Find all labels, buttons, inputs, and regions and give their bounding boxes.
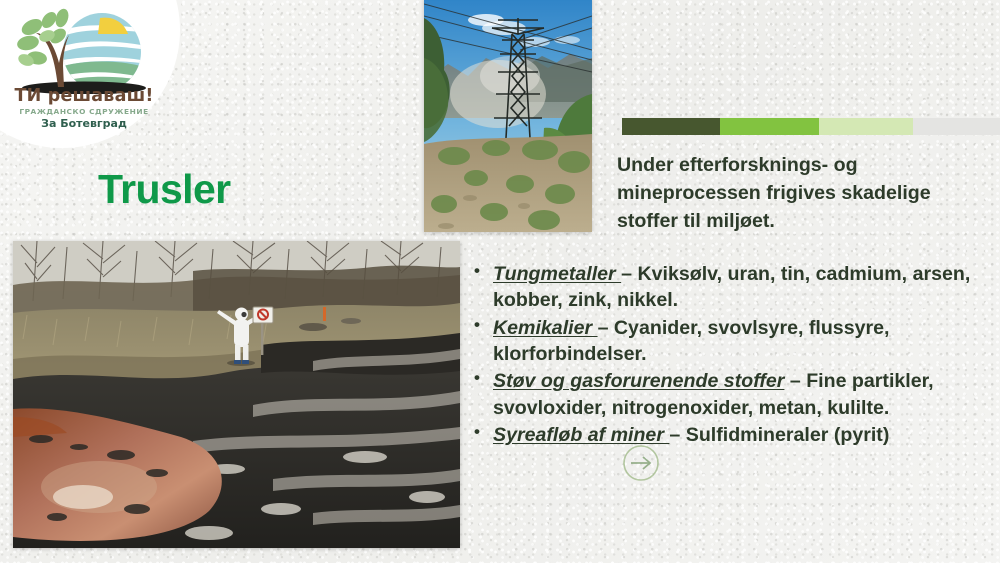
progress-segment-4	[913, 118, 1000, 135]
progress-segment-2	[720, 118, 818, 135]
list-item: Syreafløb af miner – Sulfidmineraler (py…	[468, 422, 1000, 448]
bullet-term: Syreafløb af miner	[493, 424, 669, 446]
threats-bullet-list: Tungmetaller – Kviksølv, uran, tin, cadm…	[468, 261, 1000, 449]
bullet-term: Støv og gasforurenende stoffer	[493, 370, 784, 392]
progress-segment-1	[622, 118, 720, 135]
bullet-detail: – Sulfidmineraler (pyrit)	[669, 424, 889, 446]
list-item: Kemikalier – Cyanider, svovlsyre, flussy…	[468, 315, 1000, 368]
logo-subtitle: ГРАЖДАНСКО СДРУЖЕНИЕ	[14, 107, 154, 116]
photo-top-artwork	[424, 0, 592, 232]
logo-title: ТИ решаваш!	[14, 86, 154, 106]
progress-segments	[622, 118, 1000, 135]
photo-contaminated-site-hazmat-worker	[13, 241, 460, 548]
progress-segment-3	[819, 118, 914, 135]
section-heading: Under efterforsknings- og mineprocessen …	[617, 152, 977, 235]
list-item: Støv og gasforurenende stoffer – Fine pa…	[468, 368, 1000, 421]
photo-left-artwork	[13, 241, 460, 548]
logo-tree-sun-icon	[14, 8, 154, 94]
slide-canvas: ТИ решаваш! ГРАЖДАНСКО СДРУЖЕНИЕ За Боте…	[0, 0, 1000, 563]
logo: ТИ решаваш! ГРАЖДАНСКО СДРУЖЕНИЕ За Боте…	[14, 8, 154, 138]
logo-locality: За Ботевград	[14, 117, 154, 130]
page-title: Trusler	[98, 166, 231, 213]
list-item: Tungmetaller – Kviksølv, uran, tin, cadm…	[468, 261, 1000, 314]
bullet-term: Kemikalier	[493, 317, 598, 339]
photo-power-transmission-tower	[424, 0, 592, 232]
bullet-term: Tungmetaller	[493, 263, 621, 285]
